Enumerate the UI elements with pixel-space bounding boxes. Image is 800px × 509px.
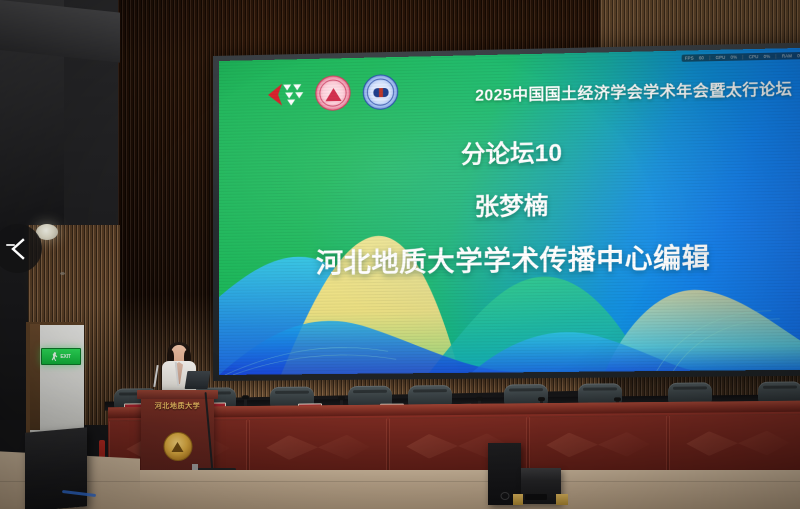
fps-value: 60 — [699, 55, 704, 60]
table-panel — [669, 414, 800, 473]
gpu-value: 0% — [731, 54, 738, 59]
chevron-left-icon — [8, 237, 28, 261]
red-circular-seal-logo — [315, 75, 350, 111]
stage-wedge — [513, 494, 523, 505]
ram-label: RAM — [782, 53, 792, 58]
exit-sign-label: EXIT — [60, 354, 70, 360]
door-leaf — [30, 324, 40, 430]
blue-circular-seal-logo — [363, 74, 398, 110]
cpu-value: 0% — [764, 54, 771, 59]
conference-title: 2025中国国土经济学会学术年会暨太行论坛 — [475, 77, 792, 106]
gpu-label: GPU — [716, 55, 726, 60]
overlay-separator-3: | — [775, 54, 776, 59]
university-crest-icon — [163, 432, 192, 461]
laptop — [185, 371, 211, 389]
edge-tick — [6, 244, 15, 246]
podium-nameplate: 河北地质大学 — [141, 401, 214, 411]
session-info-block: 分论坛10 张梦楠 河北地质大学学术传播中心编辑 — [219, 128, 800, 282]
session-label: 分论坛10 — [219, 128, 800, 174]
floor-seam — [0, 481, 800, 482]
sponsor-logo-row — [265, 74, 398, 112]
overlay-separator-1: | — [709, 55, 710, 60]
led-screen: FPS 60 | GPU 0% | CPU 0% | RAM 0% 2025中国… — [219, 48, 800, 375]
table-panel — [529, 415, 667, 474]
speaker-name: 张梦楠 — [219, 181, 800, 226]
emergency-exit-sign: EXIT — [41, 348, 81, 365]
speaker-affiliation: 河北地质大学学术传播中心编辑 — [219, 234, 800, 282]
cpu-label: CPU — [749, 54, 759, 59]
chair — [668, 382, 712, 403]
table-panel — [249, 418, 387, 477]
running-person-icon — [51, 352, 58, 361]
photo-viewer: EXIT — [0, 0, 800, 509]
subwoofer-speaker — [521, 468, 561, 504]
left-floor-speaker — [25, 427, 87, 509]
fps-label: FPS — [685, 55, 694, 60]
overlay-separator-2: | — [742, 54, 743, 59]
stage-wedge — [556, 494, 568, 505]
performance-overlay: FPS 60 | GPU 0% | CPU 0% | RAM 0% — [682, 52, 800, 62]
ceiling-spotlight — [60, 272, 65, 275]
chevron-arrow-logo — [265, 81, 303, 108]
chair — [758, 381, 800, 402]
